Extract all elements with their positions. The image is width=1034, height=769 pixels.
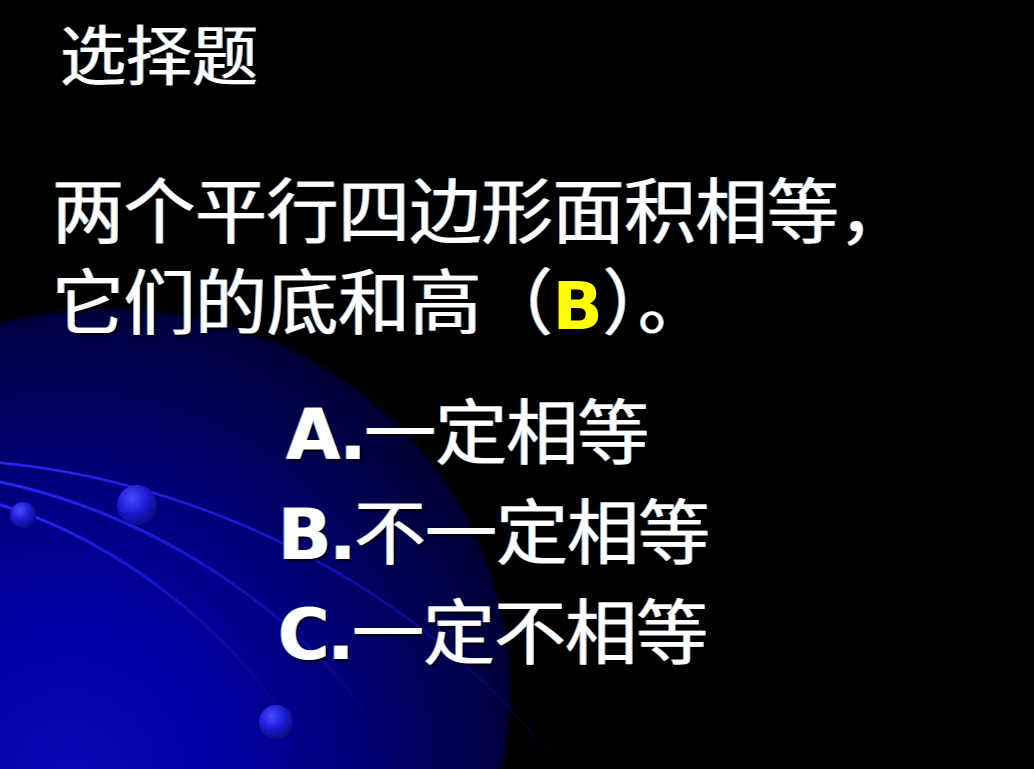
option-a-letter: A. (286, 394, 364, 476)
question-line-2-suffix: ）。 (602, 262, 709, 346)
option-c[interactable]: C.一定不相等 (270, 584, 970, 684)
question-line-1: 两个平行四边形面积相等， (52, 168, 1012, 259)
slide-canvas: 选择题 两个平行四边形面积相等， 它们的底和高（B）。 A.一定相等 B.不一定… (0, 0, 1034, 769)
orbit-dot-lower (259, 705, 293, 739)
option-a[interactable]: A.一定相等 (270, 384, 970, 484)
question-body: 两个平行四边形面积相等， 它们的底和高（B）。 (52, 168, 1012, 349)
orbit-arc-inner (0, 502, 310, 769)
answer-key-highlight: B (553, 268, 603, 345)
option-b[interactable]: B.不一定相等 (270, 484, 970, 584)
option-c-text: 一定不相等 (352, 592, 707, 676)
orbit-dot-large (117, 485, 157, 525)
option-b-letter: B. (278, 494, 354, 576)
question-line-2: 它们的底和高（B）。 (52, 259, 1012, 350)
question-line-2-prefix: 它们的底和高（ (52, 262, 553, 346)
slide-title: 选择题 (60, 22, 258, 95)
options-list: A.一定相等 B.不一定相等 C.一定不相等 (270, 384, 970, 684)
option-c-letter: C. (278, 594, 352, 676)
orbit-dot-small (10, 502, 36, 528)
option-a-text: 一定相等 (364, 392, 648, 476)
option-b-text: 不一定相等 (354, 492, 709, 576)
